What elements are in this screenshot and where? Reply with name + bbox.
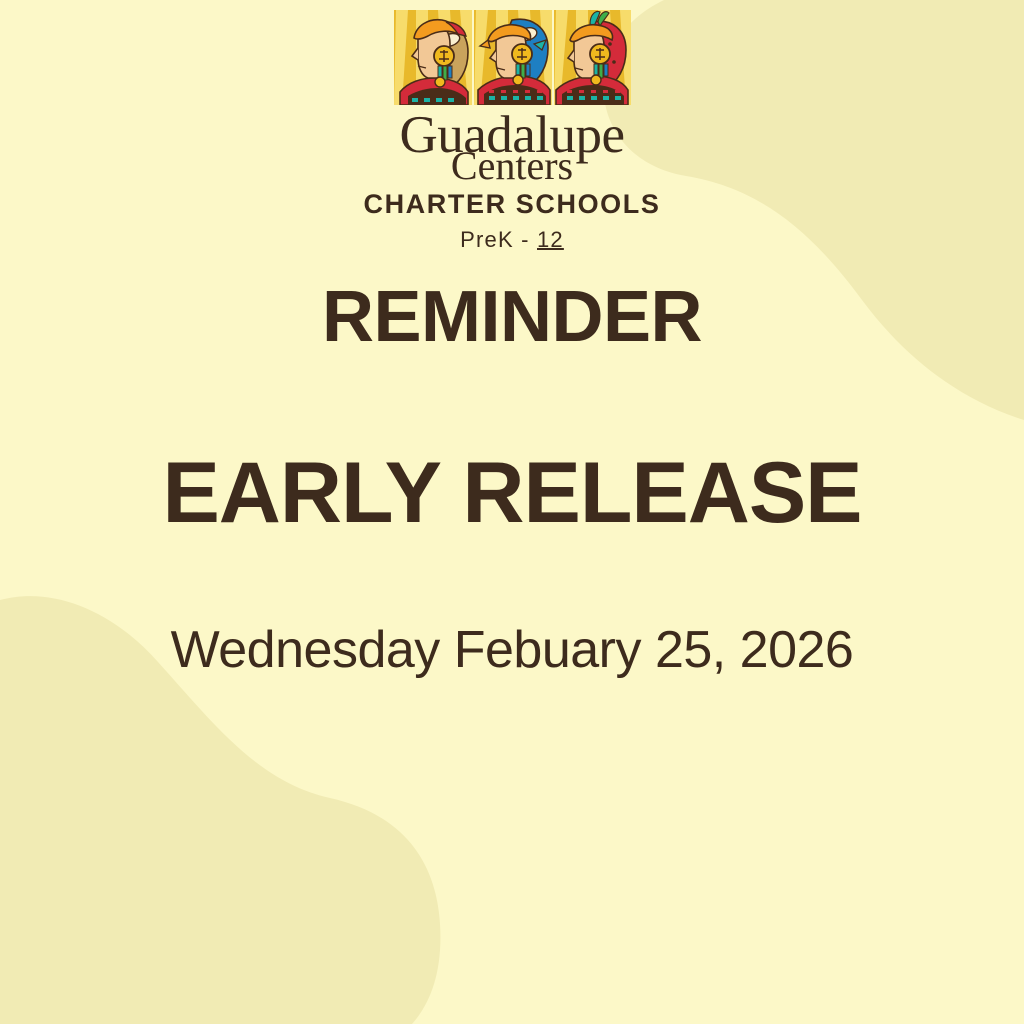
grade-range-value: 12	[537, 227, 564, 252]
logo-grade-range: PreK - 12	[0, 227, 1024, 253]
grade-prefix-label: PreK -	[460, 227, 537, 252]
announcement-date: Wednesday Febuary 25, 2026	[0, 622, 1024, 679]
announcement-poster: Guadalupe Centers CHARTER SCHOOLS PreK -…	[0, 0, 1024, 1024]
reminder-kicker: REMINDER	[0, 281, 1024, 353]
logo-name-line2: Centers	[0, 146, 1024, 186]
aztec-warriors-logo-icon	[394, 10, 631, 105]
logo-tagline: CHARTER SCHOOLS	[0, 189, 1024, 220]
school-logo-block: Guadalupe Centers CHARTER SCHOOLS PreK -…	[0, 10, 1024, 253]
announcement-headline: EARLY RELEASE	[0, 450, 1024, 536]
logo-wordmark: Guadalupe Centers	[0, 109, 1024, 187]
